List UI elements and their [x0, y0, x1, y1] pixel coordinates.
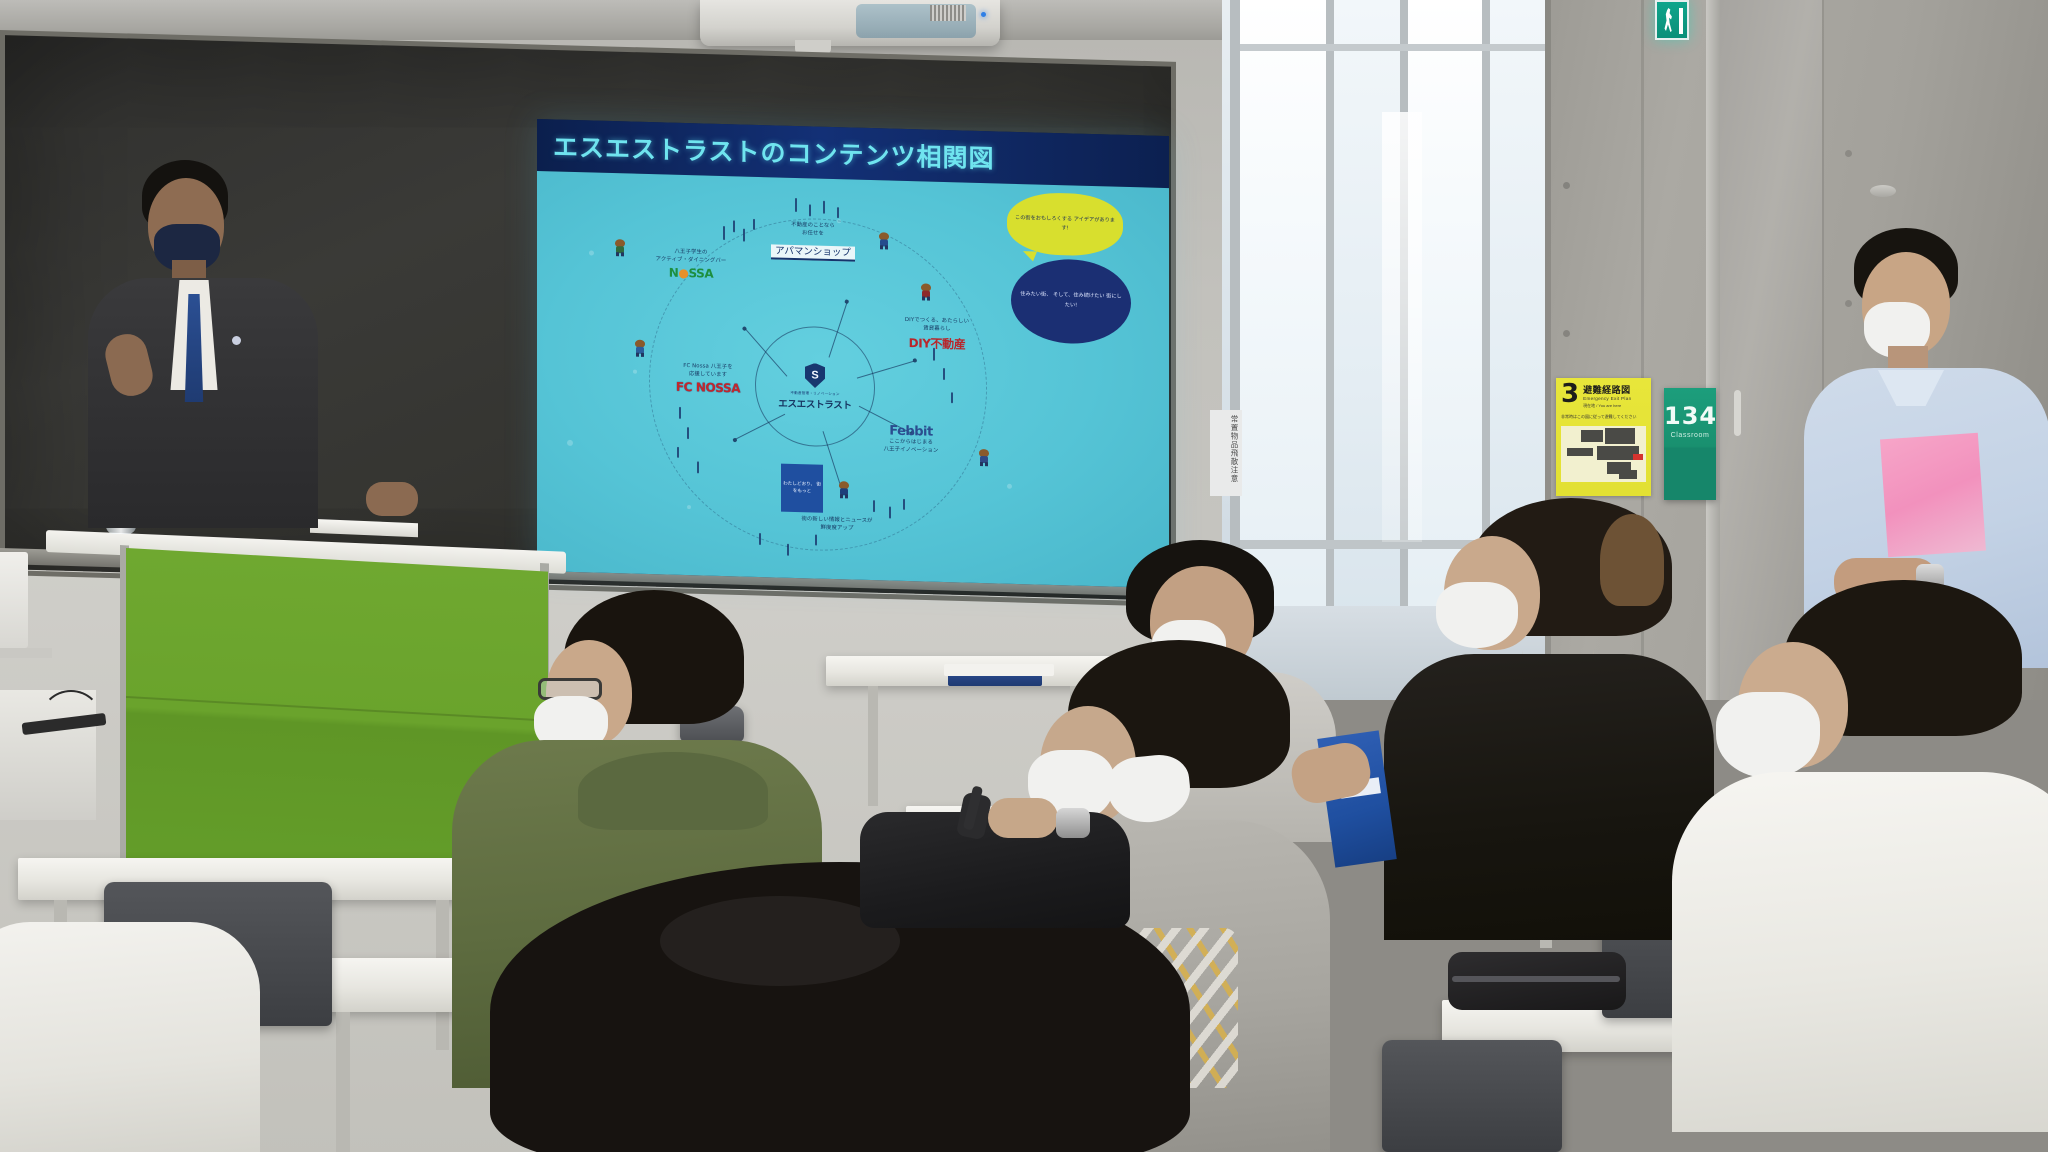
node-nossa-caption: 八王子学生の アクティブ・ダイニングバー [635, 248, 747, 267]
desk-leg [868, 686, 878, 806]
monitor-stand [0, 648, 52, 658]
classroom-photo-scene: エスエストラストのコンテンツ相関図 [0, 0, 2048, 1152]
white-tee [1672, 772, 2048, 1132]
mascot-icon [613, 239, 627, 256]
node-diy-logo: DIY不動産 [885, 333, 989, 353]
pink-folder [1880, 433, 1986, 558]
node-apaman-logo: アパマンショップ [771, 244, 855, 261]
shield-letter: S [811, 370, 818, 381]
desktop-monitor [0, 552, 28, 648]
node-febbit: Febbit ここからはじまる 八王子イノベーション [855, 422, 967, 457]
node-news-caption: 街の新しい情報とニュースが 鮮度度アップ [781, 516, 893, 535]
mascot-icon [977, 449, 991, 466]
ceiling-projector [700, 0, 1000, 46]
slide-title: エスエストラストのコンテンツ相関図 [537, 127, 995, 175]
hub-name: エスエストラスト [778, 395, 851, 411]
node-news-card: わたしどおり、 街をもっと [781, 464, 823, 513]
running-man-icon [1664, 8, 1673, 32]
room-number: 134 [1664, 402, 1716, 430]
mascot-icon [919, 283, 933, 300]
mascot-icon [837, 481, 851, 498]
vision-callout-bubble: 住みたい街、 そして、住み続けたい 街にしたい! [1011, 258, 1131, 345]
door-handle[interactable] [1734, 390, 1741, 436]
node-nossa-logo: N●SSA [635, 264, 747, 281]
mascot-icon [877, 232, 891, 249]
projector-vent [930, 5, 966, 21]
chair[interactable] [1382, 1040, 1562, 1152]
presenter-lapel-pin [232, 336, 241, 345]
student-face-mask [1436, 582, 1518, 648]
emergency-exit-plan-poster: 3 避難経路図 Emergency Exit Plan 現在地 / You ar… [1556, 378, 1651, 496]
emergency-exit-sign [1655, 0, 1689, 40]
projected-slide: エスエストラストのコンテンツ相関図 [537, 119, 1169, 588]
hair-highlight [1600, 514, 1664, 606]
node-fcnossa-caption: FC Nossa 八王子を 応援しています [649, 362, 767, 381]
slide-diagram: S 不動産管理・リノベーション エスエストラスト 八王子学生の アクティブ・ダイ… [537, 171, 1169, 588]
student-hand [988, 798, 1058, 838]
door-frame [1706, 0, 1720, 700]
corridor-notice-sign: 常置物品飛散注意 [1210, 410, 1242, 496]
mascot-icon [633, 340, 647, 357]
projector-mount [795, 40, 831, 54]
node-apaman-caption: 不動産のことなら お任せを [759, 221, 867, 240]
node-fcnossa: FC Nossa 八王子を 応援しています FC NOSSA [649, 362, 767, 396]
node-nossa: 八王子学生の アクティブ・ダイニングバー N●SSA [635, 248, 747, 282]
idea-callout-bubble: この街をおもしろくする アイデアがあります! [1007, 192, 1123, 257]
node-febbit-caption: ここからはじまる 八王子イノベーション [855, 438, 967, 457]
room-type: Classroom [1664, 432, 1716, 439]
smoke-detector [1870, 185, 1896, 197]
room-number-sign: 134 Classroom [1664, 388, 1716, 500]
ss-trust-shield-icon: S [805, 363, 825, 389]
floor-plan-map [1561, 426, 1646, 482]
student-face-mask [1716, 692, 1820, 778]
jacket-hood [578, 752, 768, 830]
node-news: わたしどおり、 街をもっと 街の新しい情報とニュースが 鮮度度アップ [781, 464, 893, 535]
exit-door-icon [1679, 8, 1683, 34]
floor-number: 3 [1561, 383, 1579, 406]
desk-leg [336, 1012, 350, 1152]
pouch-zipper [1452, 976, 1620, 982]
projector-led-indicator [981, 12, 986, 17]
student-top [1384, 654, 1714, 940]
node-diy-caption: DIYでつくる、あたらしい 賃貸暮らし [885, 316, 989, 334]
poster-note: 非常時はこの図に従って避難してください [1561, 411, 1646, 420]
paper-sheet [944, 664, 1054, 676]
node-apaman: 不動産のことなら お任せを アパマンショップ [759, 221, 867, 261]
wrist-watch[interactable] [1056, 808, 1090, 838]
presenter-resting-hand [366, 482, 418, 516]
white-tee [0, 922, 260, 1152]
node-diy: DIYでつくる、あたらしい 賃貸暮らし DIY不動産 [885, 316, 989, 352]
